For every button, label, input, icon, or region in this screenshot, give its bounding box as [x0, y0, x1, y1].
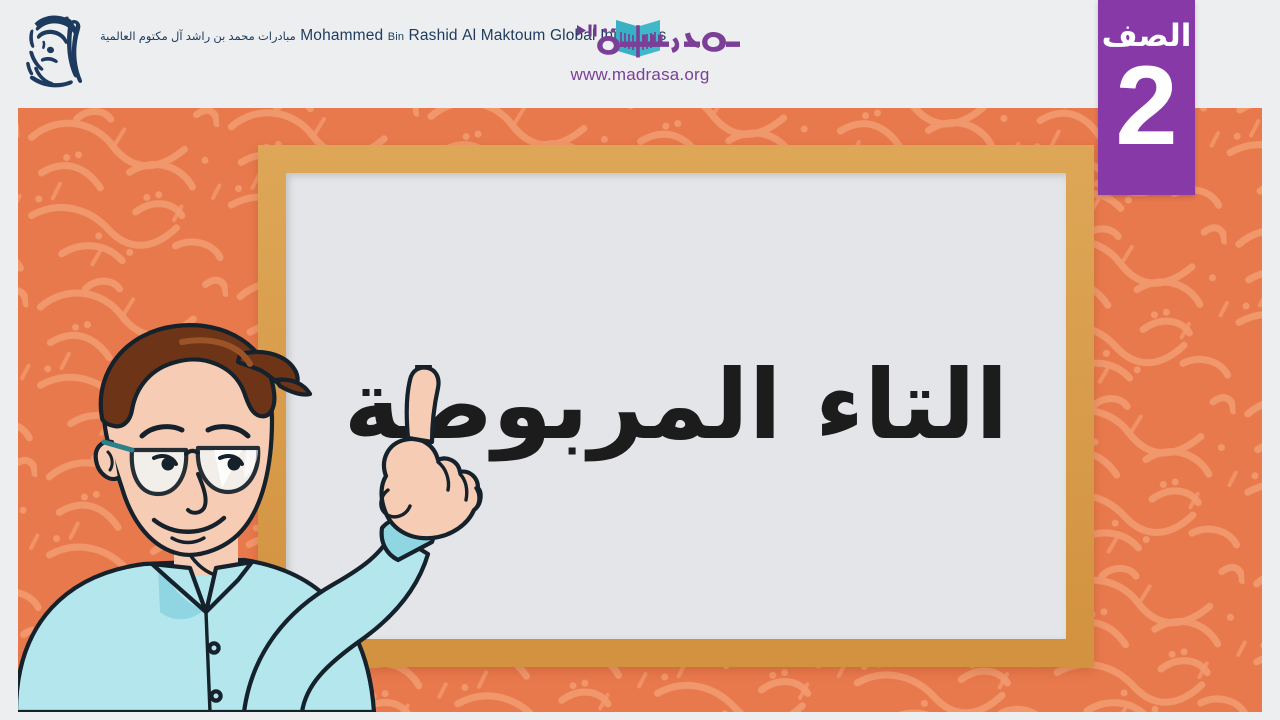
- play-pause-icon: [577, 25, 597, 37]
- lesson-stage: التاء المربوطة: [18, 108, 1262, 712]
- sheikh-portrait-emblem-icon: [18, 10, 88, 92]
- mbr-english-name-line1: Mohammed Bin Rashid: [300, 27, 457, 44]
- madrasa-url-text[interactable]: www.madrasa.org: [530, 65, 750, 85]
- grade-badge: الصف 2: [1098, 0, 1195, 195]
- header-bar: مبادرات محمد بن راشد آل مكتوم العالمية M…: [0, 0, 1280, 108]
- grade-number: 2: [1115, 57, 1177, 156]
- madrasa-wordmark: [530, 12, 750, 64]
- madrasa-logo[interactable]: www.madrasa.org: [530, 12, 750, 85]
- mbr-arabic-name: مبادرات محمد بن راشد آل مكتوم العالمية: [100, 31, 296, 43]
- pointing-hand: [381, 368, 481, 539]
- teacher-character: [18, 292, 536, 712]
- lesson-slide: مبادرات محمد بن راشد آل مكتوم العالمية M…: [0, 0, 1280, 720]
